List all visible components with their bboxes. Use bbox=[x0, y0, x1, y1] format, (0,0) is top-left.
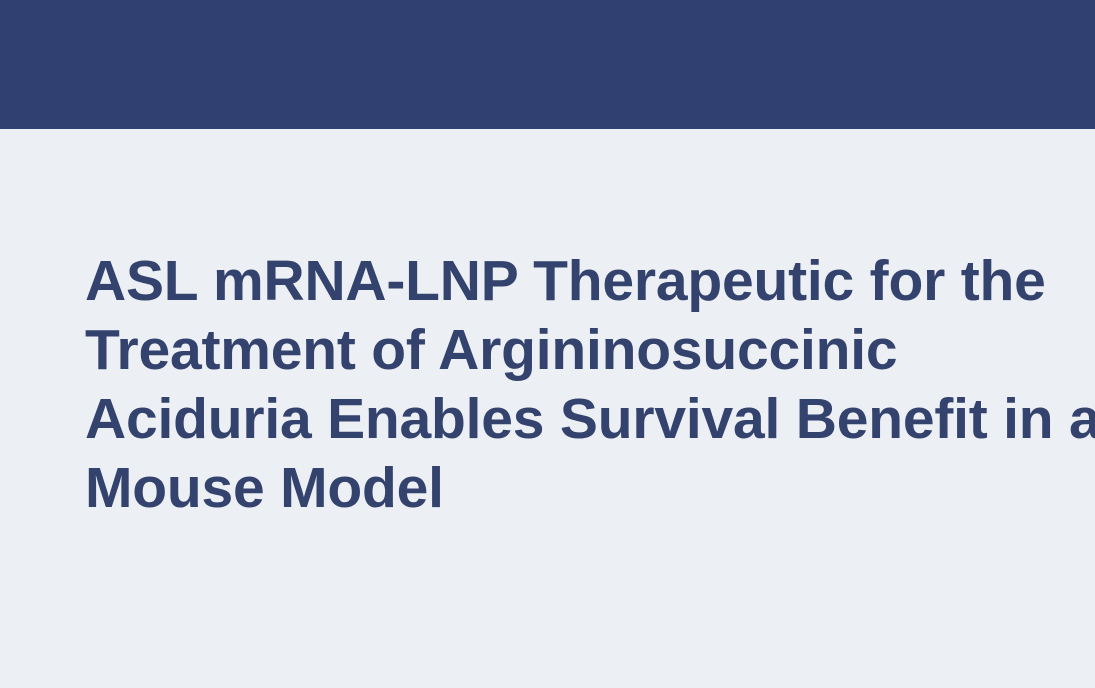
header-band bbox=[0, 0, 1095, 129]
page-title-line-3: Aciduria Enables Survival Benefit in a bbox=[85, 385, 1060, 454]
page-title: ASL mRNA-LNP Therapeutic for the Treatme… bbox=[85, 247, 1060, 523]
title-block: ASL mRNA-LNP Therapeutic for the Treatme… bbox=[85, 247, 1060, 523]
page-title-line-4: Mouse Model bbox=[85, 454, 1060, 523]
main-content: ASL mRNA-LNP Therapeutic for the Treatme… bbox=[0, 129, 1095, 688]
page-title-line-1: ASL mRNA-LNP Therapeutic for the bbox=[85, 247, 1060, 316]
page-title-line-2: Treatment of Argininosuccinic bbox=[85, 316, 1060, 385]
